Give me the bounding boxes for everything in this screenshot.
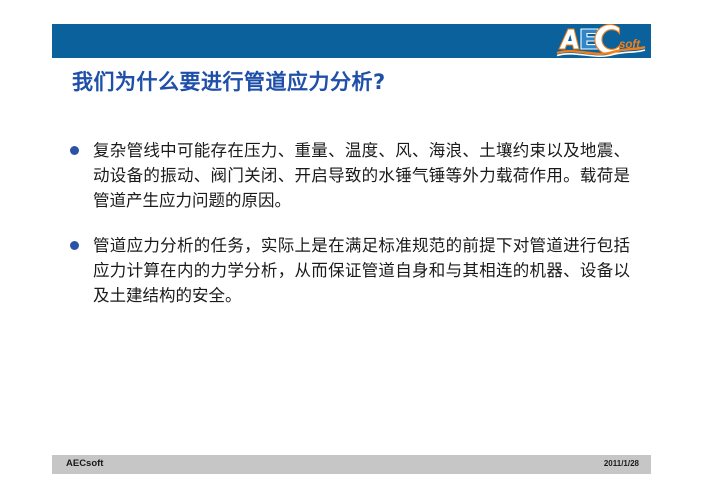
logo-letter-a xyxy=(559,29,579,49)
disc-bullet-icon xyxy=(70,241,79,250)
list-item: 复杂管线中可能存在压力、重量、温度、风、海浪、土壤约束以及地震、动设备的振动、阀… xyxy=(70,138,630,213)
list-item: 管道应力分析的任务，实际上是在满足标准规范的前提下对管道进行包括应力计算在内的力… xyxy=(70,233,630,308)
disc-bullet-icon xyxy=(70,146,79,155)
slide-body: 复杂管线中可能存在压力、重量、温度、风、海浪、土壤约束以及地震、动设备的振动、阀… xyxy=(70,138,630,328)
footer-date-label: 2011/1/28 xyxy=(604,459,639,468)
bullet-text: 管道应力分析的任务，实际上是在满足标准规范的前提下对管道进行包括应力计算在内的力… xyxy=(93,233,630,308)
slide-footer-bar: AECsoft 2011/1/28 xyxy=(52,455,651,474)
page-title: 我们为什么要进行管道应力分析? xyxy=(72,66,386,96)
slide-header-bar: soft xyxy=(52,24,651,58)
bullet-text: 复杂管线中可能存在压力、重量、温度、风、海浪、土壤约束以及地震、动设备的振动、阀… xyxy=(93,138,630,213)
aecsoft-logo: soft xyxy=(555,24,647,58)
footer-brand-label: AECsoft xyxy=(66,458,103,469)
